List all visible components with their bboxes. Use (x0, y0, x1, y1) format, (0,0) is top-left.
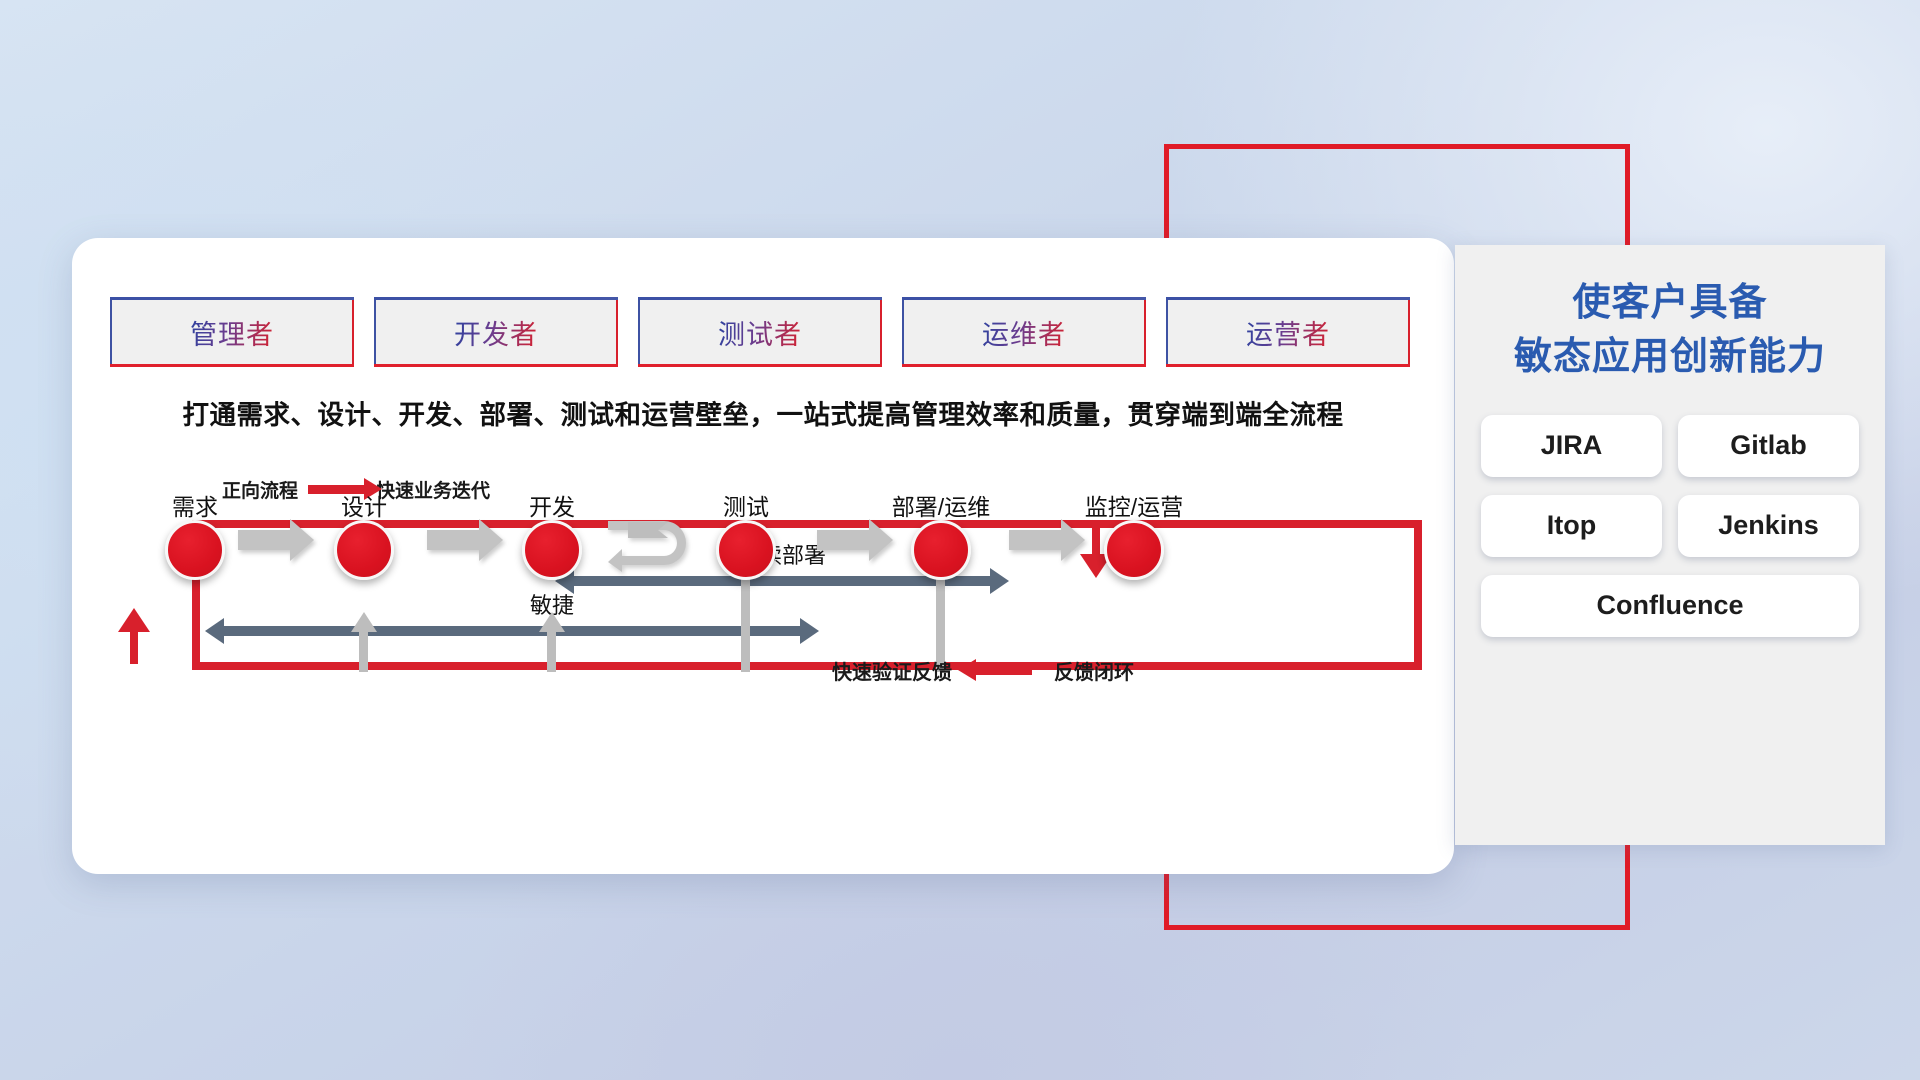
pipeline-node-dot (522, 520, 582, 580)
pipeline-node-label: 开发 (529, 488, 575, 522)
stem-design (359, 630, 368, 672)
headline-text: 打通需求、设计、开发、部署、测试和运营壁垒，一站式提高管理效率和质量，贯穿端到端… (72, 393, 1454, 432)
arrow-right-gray-icon (817, 530, 871, 550)
role-label: 开发者 (454, 313, 538, 352)
pipeline-node-label: 监控/运营 (1085, 488, 1183, 522)
tool-tag-grid: JIRA Gitlab Itop Jenkins Confluence (1481, 415, 1859, 637)
outcome-title-line2: 敏态应用创新能力 (1481, 331, 1859, 385)
arrow-up-gray-icon (539, 612, 565, 632)
stem-develop (547, 630, 556, 672)
pipeline-node-dot (165, 520, 225, 580)
role-label: 管理者 (190, 313, 274, 352)
pipeline-node-dot (1104, 520, 1164, 580)
tool-tag-itop[interactable]: Itop (1481, 495, 1662, 557)
arrow-right-gray-icon (1009, 530, 1063, 550)
role-label: 测试者 (718, 313, 802, 352)
arrow-left-red-icon (974, 666, 1032, 675)
arrow-right-gray-icon (238, 530, 292, 550)
role-label: 运营者 (1246, 313, 1330, 352)
legend-feedback-from: 快速验证反馈 (832, 656, 952, 685)
arrow-up-gray-icon (351, 612, 377, 632)
loop-back-gray-icon (606, 516, 692, 572)
outcome-title-line1: 使客户具备 (1481, 277, 1859, 331)
pipeline-node-dot (911, 520, 971, 580)
tool-tag-jenkins[interactable]: Jenkins (1678, 495, 1859, 557)
legend-feedback-to: 反馈闭环 (1054, 656, 1134, 685)
pipeline-node-label: 设计 (341, 488, 387, 522)
pipeline-node-dot (334, 520, 394, 580)
outcome-panel: 使客户具备 敏态应用创新能力 JIRA Gitlab Itop Jenkins … (1455, 245, 1885, 845)
stem-test (741, 570, 750, 672)
pipeline-node-label: 部署/运维 (892, 488, 990, 522)
pipeline-node-label: 需求 (172, 488, 218, 522)
role-label: 运维者 (982, 313, 1066, 352)
role-box-row: 管理者 开发者 测试者 运维者 运营者 (110, 300, 1410, 364)
tool-tag-gitlab[interactable]: Gitlab (1678, 415, 1859, 477)
role-box-operations[interactable]: 运营者 (1166, 300, 1410, 364)
tool-tag-jira[interactable]: JIRA (1481, 415, 1662, 477)
devops-flow-card: 管理者 开发者 测试者 运维者 运营者 打通需求、设计、开发、部署、测试和运营壁… (72, 238, 1454, 874)
pipeline: 需求 设计 开发 测试 部署/运维 监控/运营 (110, 478, 1410, 668)
role-box-tester[interactable]: 测试者 (638, 300, 882, 364)
outcome-panel-title: 使客户具备 敏态应用创新能力 (1481, 277, 1859, 385)
tool-tag-confluence[interactable]: Confluence (1481, 575, 1859, 637)
pipeline-node-dot (716, 520, 776, 580)
role-box-developer[interactable]: 开发者 (374, 300, 618, 364)
legend-feedback-loop: 快速验证反馈 反馈闭环 (832, 656, 1134, 685)
red-loop-right-rail (1414, 520, 1422, 670)
arrow-right-gray-icon (427, 530, 481, 550)
pipeline-node-label: 测试 (723, 488, 769, 522)
role-box-manager[interactable]: 管理者 (110, 300, 354, 364)
role-box-ops[interactable]: 运维者 (902, 300, 1146, 364)
